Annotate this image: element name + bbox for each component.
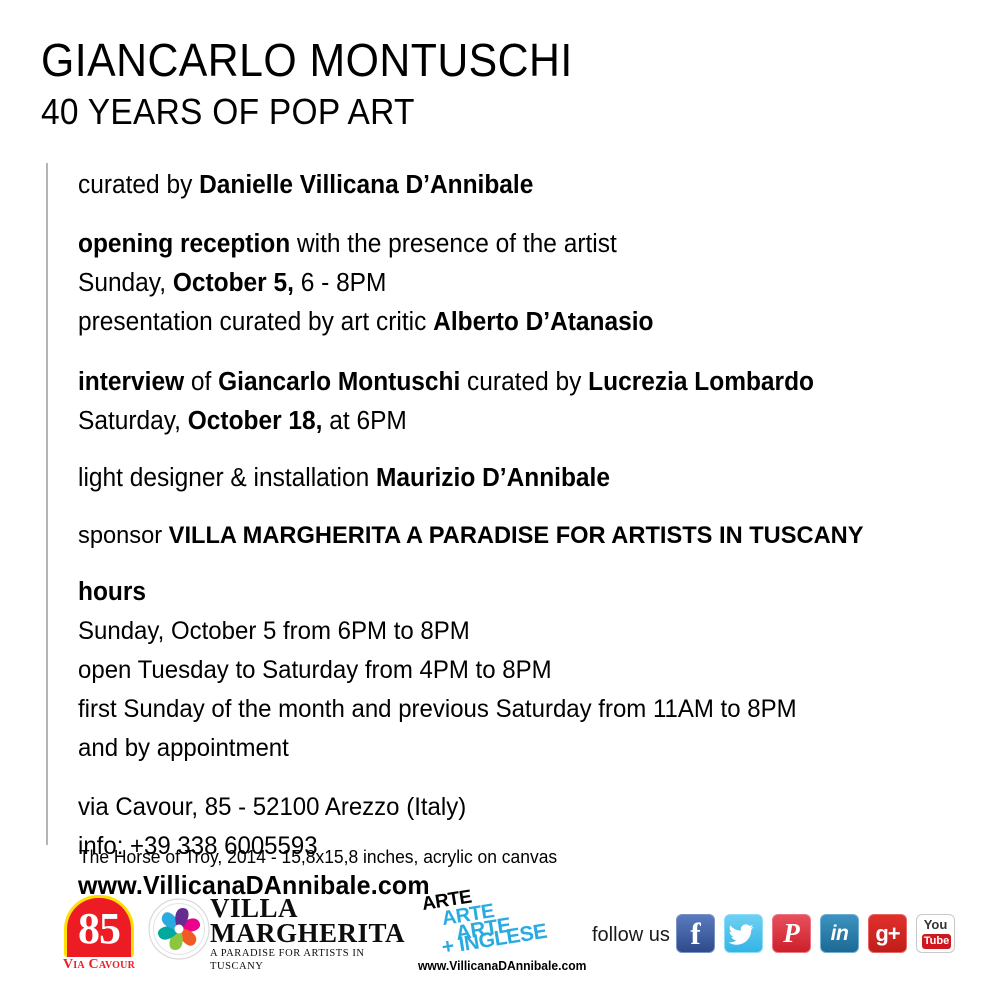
villa-word-margherita: MARGHERITA — [210, 921, 410, 946]
spacer — [78, 498, 973, 516]
presentation-lead: presentation curated by art critic — [78, 308, 433, 336]
hours-line-1: Sunday, October 5 from 6PM to 8PM — [78, 612, 937, 651]
hours-paragraph: hours Sunday, October 5 from 6PM to 8PM … — [78, 573, 973, 768]
page-title: GIANCARLO MONTUSCHI 40 YEARS OF POP ART — [41, 36, 961, 134]
spacer — [78, 555, 973, 573]
hours-line-4: and by appointment — [78, 729, 937, 768]
hours-line-3: first Sunday of the month and previous S… — [78, 690, 937, 729]
interview-day: Saturday, — [78, 407, 188, 435]
spacer — [78, 205, 973, 225]
sponsor-line: sponsor VILLA MARGHERITA A PARADISE FOR … — [78, 516, 942, 555]
interview-time: at 6PM — [322, 407, 406, 435]
youtube-glyph-bottom: Tube — [922, 934, 951, 949]
youtube-icon[interactable]: You Tube — [916, 914, 955, 953]
footer: 85 Via Cavour VILLA MARGHERITA A PARADIS… — [0, 888, 1000, 1000]
artwork-caption: The Horse of Troy, 2014 - 15,8x15,8 inch… — [79, 845, 557, 869]
facebook-icon[interactable]: f — [676, 914, 715, 953]
villa-margherita-logo[interactable]: VILLA MARGHERITA A PARADISE FOR ARTISTS … — [148, 896, 410, 972]
opening-reception-label: opening reception — [78, 230, 290, 258]
linkedin-glyph: in — [821, 915, 858, 952]
exhibition-subtitle: 40 YEARS OF POP ART — [41, 90, 897, 134]
curated-by-lead: curated by — [78, 171, 199, 199]
curated-by-paragraph: curated by Danielle Villicana D’Annibale — [78, 166, 973, 205]
light-designer-line: light designer & installation Maurizio D… — [78, 459, 937, 498]
arte-inglese-logo[interactable]: ARTE ARTE ARTE + INGLESE www.VillicanaDA… — [418, 892, 578, 978]
interview-of: of — [184, 368, 218, 396]
contact-address: via Cavour, 85 - 52100 Arezzo (Italy) — [78, 788, 937, 827]
linkedin-icon[interactable]: in — [820, 914, 859, 953]
sponsor-paragraph: sponsor VILLA MARGHERITA A PARADISE FOR … — [78, 516, 973, 555]
via-cavour-logo[interactable]: 85 Via Cavour — [58, 895, 140, 977]
villa-margherita-wordmark: VILLA MARGHERITA A PARADISE FOR ARTISTS … — [210, 896, 410, 973]
interview-subject: Giancarlo Montuschi — [218, 368, 460, 396]
opening-time: 6 - 8PM — [294, 269, 387, 297]
event-details: curated by Danielle Villicana D’Annibale… — [78, 166, 973, 905]
opening-line-1: opening reception with the presence of t… — [78, 225, 937, 264]
pinwheel-flower-icon — [148, 898, 210, 960]
interview-label: interview — [78, 368, 184, 396]
spacer — [78, 441, 973, 459]
interview-date: October 18, — [188, 407, 323, 435]
pinterest-glyph: P — [773, 915, 810, 952]
opening-line-1-rest: with the presence of the artist — [290, 230, 617, 258]
pinterest-icon[interactable]: P — [772, 914, 811, 953]
artist-name: GIANCARLO MONTUSCHI — [41, 36, 897, 84]
interview-line-1: interview of Giancarlo Montuschi curated… — [78, 363, 937, 402]
spacer — [78, 342, 973, 363]
opening-date: October 5, — [173, 269, 294, 297]
curated-by-line: curated by Danielle Villicana D’Annibale — [78, 166, 937, 205]
facebook-glyph: f — [677, 915, 714, 953]
spacer — [78, 768, 973, 788]
interview-line-2: Saturday, October 18, at 6PM — [78, 402, 937, 441]
hours-line-2: open Tuesday to Saturday from 4PM to 8PM — [78, 651, 937, 690]
arte-logo-url[interactable]: www.VillicanaDAnnibale.com — [418, 959, 586, 973]
via-cavour-number: 85 — [58, 904, 140, 954]
light-designer-lead: light designer & installation — [78, 464, 376, 492]
opening-line-2: Sunday, October 5, 6 - 8PM — [78, 264, 937, 303]
curator-name: Danielle Villicana D’Annibale — [199, 171, 533, 199]
light-designer-paragraph: light designer & installation Maurizio D… — [78, 459, 973, 498]
light-designer-name: Maurizio D’Annibale — [376, 464, 610, 492]
interview-curated-by: curated by — [460, 368, 588, 396]
art-critic-name: Alberto D’Atanasio — [433, 308, 653, 336]
opening-line-3: presentation curated by art critic Alber… — [78, 303, 937, 342]
hours-heading-text: hours — [78, 578, 146, 606]
googleplus-glyph: g+ — [869, 915, 906, 952]
interview-curator: Lucrezia Lombardo — [588, 368, 814, 396]
sponsor-lead: sponsor — [78, 522, 169, 549]
youtube-glyph-top: You — [917, 918, 954, 932]
interview-paragraph: interview of Giancarlo Montuschi curated… — [78, 363, 973, 441]
twitter-icon[interactable] — [724, 914, 763, 953]
villa-tagline: A PARADISE FOR ARTISTS IN TUSCANY — [210, 947, 410, 973]
sponsor-name: VILLA MARGHERITA A PARADISE FOR ARTISTS … — [169, 522, 864, 549]
googleplus-icon[interactable]: g+ — [868, 914, 907, 953]
opening-day: Sunday, — [78, 269, 173, 297]
hours-heading: hours — [78, 573, 937, 612]
twitter-bird-glyph — [725, 915, 762, 952]
follow-us-label: follow us — [592, 924, 670, 947]
opening-reception-paragraph: opening reception with the presence of t… — [78, 225, 973, 342]
via-cavour-subtitle: Via Cavour — [58, 957, 140, 973]
vertical-divider — [46, 163, 48, 845]
